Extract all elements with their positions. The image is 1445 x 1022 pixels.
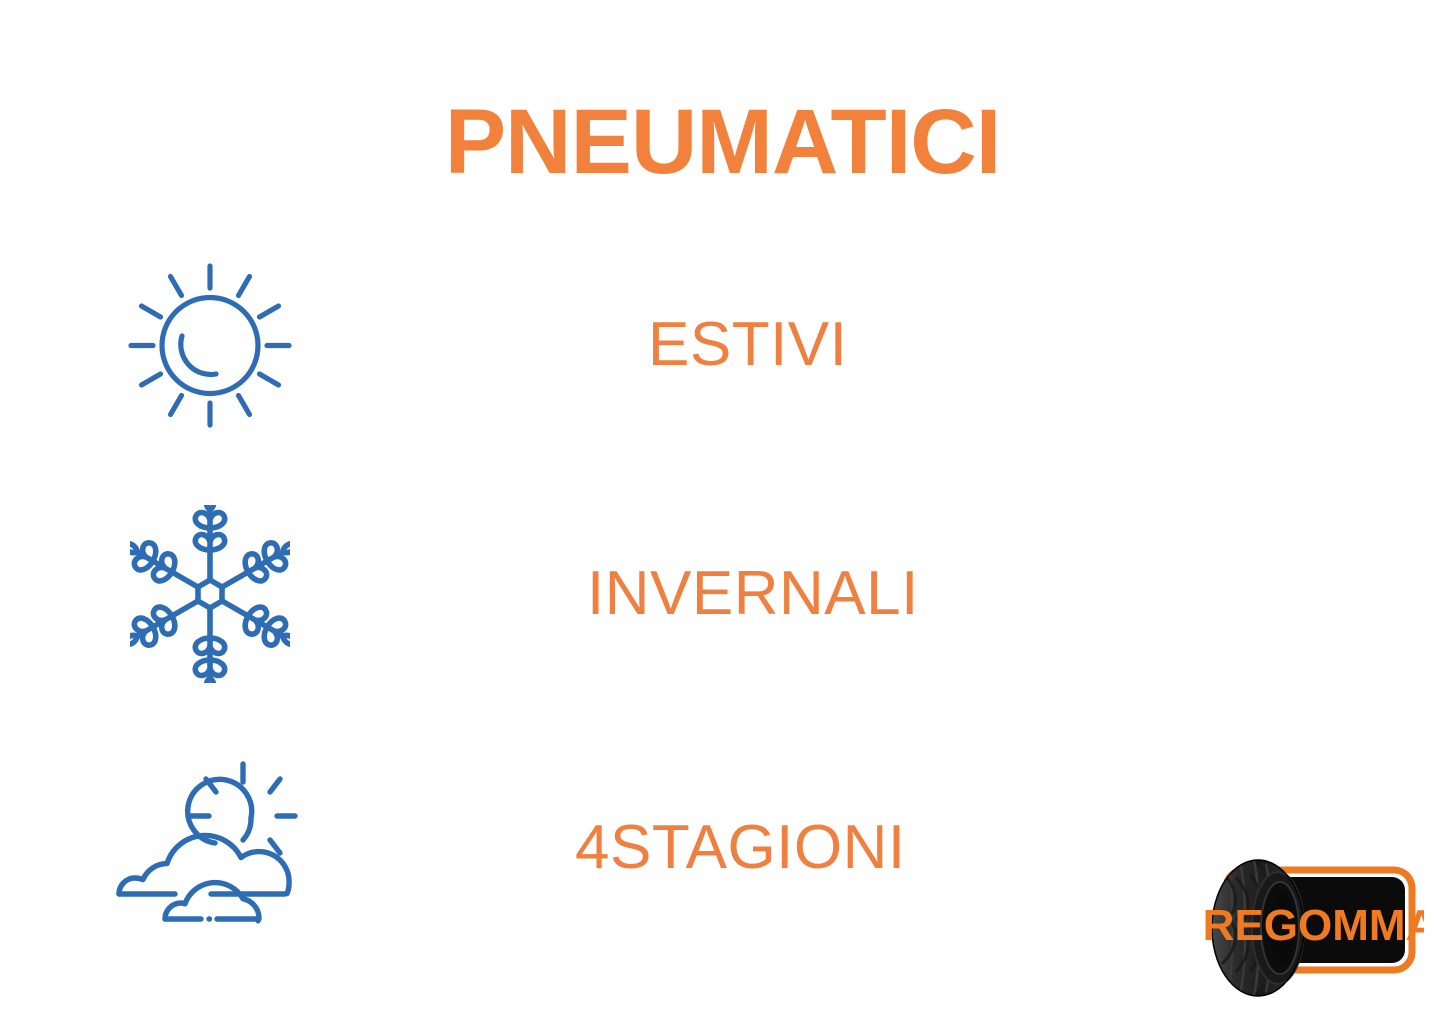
label-cell-invernali: INVERNALI <box>420 494 817 694</box>
row-label-4stagioni: 4STAGIONI <box>575 817 906 879</box>
regomma-logo[interactable]: REGOMMA <box>1192 852 1424 1004</box>
row-label-invernali: INVERNALI <box>587 563 919 625</box>
snowflake-icon-cell <box>0 494 420 694</box>
row-invernali: INVERNALI <box>0 494 1100 694</box>
tyre-seasons-infographic: PNEUMATICI <box>0 0 1445 1022</box>
sun-behind-clouds-icon <box>103 754 318 942</box>
row-label-estivi: ESTIVI <box>648 314 847 376</box>
label-cell-estivi: ESTIVI <box>420 245 878 445</box>
snowflake-icon <box>130 505 290 683</box>
sun-icon-cell <box>0 245 420 445</box>
row-4stagioni: 4STAGIONI <box>0 748 1100 948</box>
sun-icon <box>120 258 300 433</box>
label-cell-4stagioni: 4STAGIONI <box>420 748 805 948</box>
sun-behind-clouds-icon-cell <box>0 748 420 948</box>
page-title: PNEUMATICI <box>0 96 1445 188</box>
row-estivi: ESTIVI <box>0 245 1100 445</box>
logo-brand-text: REGOMMA <box>1203 901 1424 950</box>
